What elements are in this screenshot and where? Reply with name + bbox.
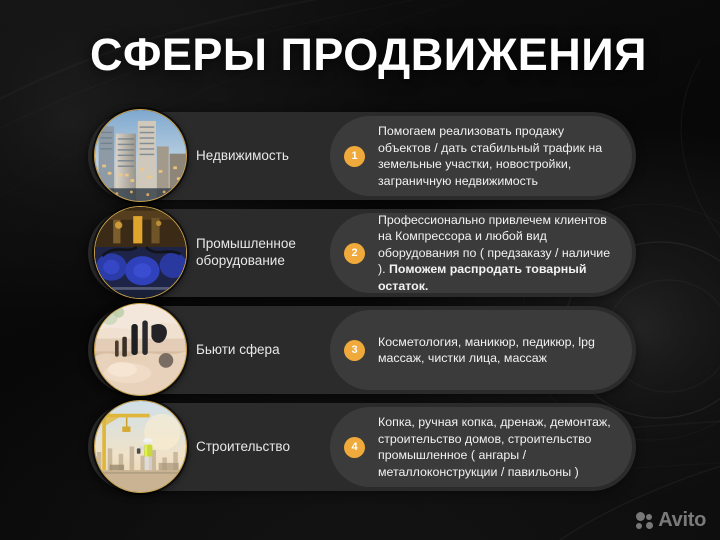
beauty-salon-photo	[94, 303, 187, 396]
sphere-number-badge: 3	[344, 340, 365, 361]
sphere-description-text: Помогаем реализовать продажу объектов / …	[378, 123, 618, 189]
sphere-card-construction[interactable]: Строительство 4 Копка, ручная копка, дре…	[88, 403, 636, 491]
construction-site-photo	[94, 400, 187, 493]
sphere-card-label: Промышленное оборудование	[196, 236, 314, 270]
sphere-description-text: Копка, ручная копка, дренаж, демонтаж, с…	[378, 414, 618, 480]
sphere-card-label: Бьюти сфера	[196, 342, 314, 359]
sphere-number-badge: 2	[344, 243, 365, 264]
real-estate-highrise-photo	[94, 109, 187, 202]
sphere-description-pill: 3 Косметология, маникюр, педикюр, lpg ма…	[330, 310, 632, 390]
sphere-description-pill: 1 Помогаем реализовать продажу объектов …	[330, 116, 632, 196]
sphere-description-text: Профессионально привлечем клиентов на Ко…	[378, 212, 618, 295]
spheres-card-list: Недвижимость 1 Помогаем реализовать прод…	[88, 112, 636, 491]
sphere-card-real-estate[interactable]: Недвижимость 1 Помогаем реализовать прод…	[88, 112, 636, 200]
sphere-description-text: Косметология, маникюр, педикюр, lpg масс…	[378, 334, 618, 367]
industrial-equipment-photo	[94, 206, 187, 299]
avito-watermark: Avito	[636, 509, 706, 532]
sphere-description-pill: 4 Копка, ручная копка, дренаж, демонтаж,…	[330, 407, 632, 487]
sphere-card-beauty[interactable]: Бьюти сфера 3 Косметология, маникюр, пед…	[88, 306, 636, 394]
sphere-number-badge: 1	[344, 146, 365, 167]
avito-dots-logo	[636, 512, 653, 529]
sphere-card-label: Строительство	[196, 439, 314, 456]
sphere-card-industrial-equipment[interactable]: Промышленное оборудование 2 Профессионал…	[88, 209, 636, 297]
sphere-description-pill: 2 Профессионально привлечем клиентов на …	[330, 213, 632, 293]
avito-wordmark: Avito	[658, 509, 706, 532]
sphere-card-label: Недвижимость	[196, 148, 314, 165]
page-title: СФЕРЫ ПРОДВИЖЕНИЯ	[90, 30, 647, 80]
sphere-number-badge: 4	[344, 437, 365, 458]
